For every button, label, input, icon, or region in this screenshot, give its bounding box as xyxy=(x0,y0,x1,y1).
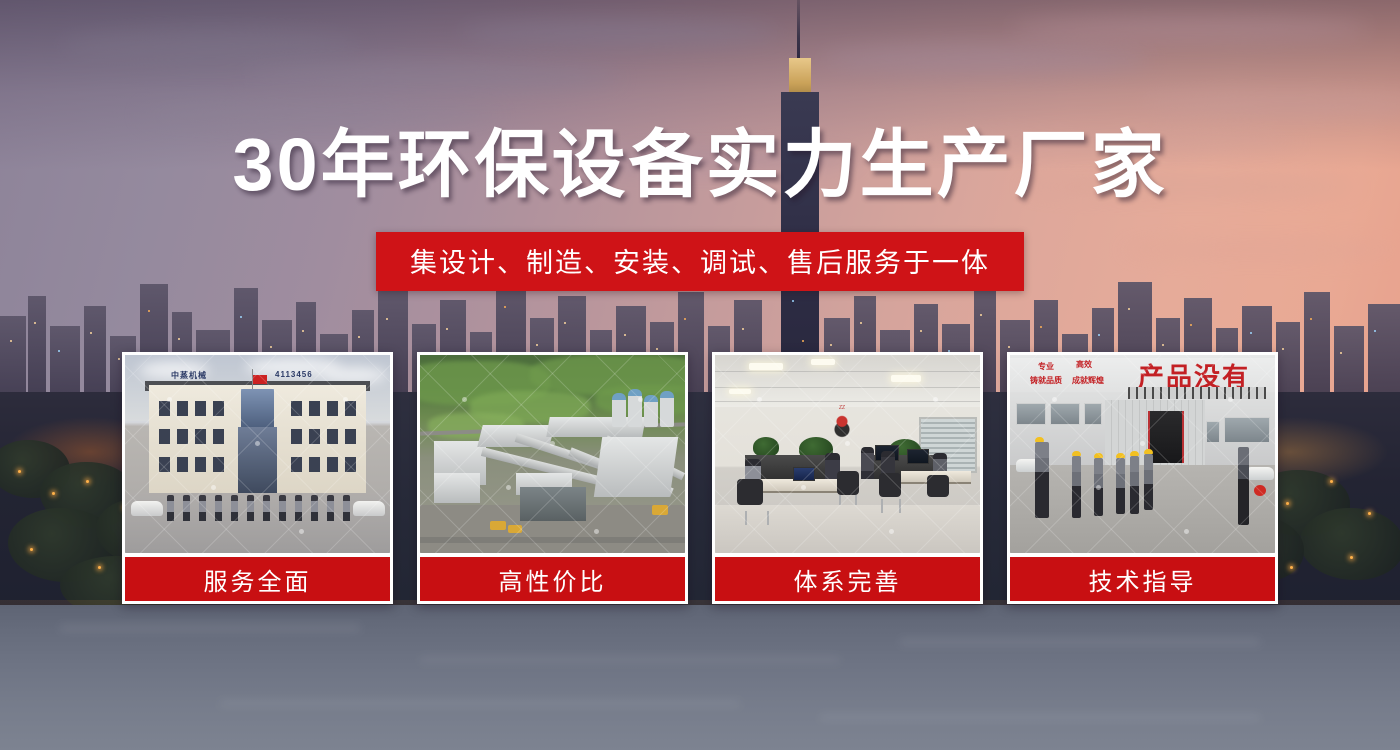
building-phone-text: 4113456 xyxy=(275,370,313,379)
feature-card-service[interactable]: 中蒸机械 4113456 xyxy=(122,352,393,604)
feature-card-training[interactable]: 产品没有 专业 高效 铸就品质 成就辉煌 xyxy=(1007,352,1278,604)
factory-slogan-small-4: 成就辉煌 xyxy=(1072,375,1104,386)
card-label-system[interactable]: 体系完善 xyxy=(715,557,980,601)
office-workspace-photo: ZZ xyxy=(715,355,980,553)
river-water xyxy=(0,605,1400,750)
card-label-service[interactable]: 服务全面 xyxy=(125,557,390,601)
company-headquarters-photo: 中蒸机械 4113456 xyxy=(125,355,390,553)
page-title: 30年环保设备实力生产厂家 xyxy=(0,128,1400,202)
technical-training-photo: 产品没有 专业 高效 铸就品质 成就辉煌 xyxy=(1010,355,1275,553)
card-label-value[interactable]: 高性价比 xyxy=(420,557,685,601)
factory-slogan-small-1: 专业 xyxy=(1038,361,1054,372)
wall-emblem-caption: ZZ xyxy=(823,405,861,411)
hero-subtitle-banner: 集设计、制造、安装、调试、售后服务于一体 xyxy=(376,232,1024,291)
factory-slogan-small-3: 铸就品质 xyxy=(1030,375,1062,386)
building-sign-text: 中蒸机械 xyxy=(171,370,207,381)
factory-slogan-small-2: 高效 xyxy=(1076,359,1092,370)
hero-banner: 30年环保设备实力生产厂家 集设计、制造、安装、调试、售后服务于一体 中蒸机械 … xyxy=(0,0,1400,750)
feature-card-system[interactable]: ZZ xyxy=(712,352,983,604)
production-plant-aerial-photo xyxy=(420,355,685,553)
feature-card-list: 中蒸机械 4113456 xyxy=(122,352,1278,604)
tower-spire xyxy=(797,0,800,62)
feature-card-value[interactable]: 高性价比 xyxy=(417,352,688,604)
card-label-training[interactable]: 技术指导 xyxy=(1010,557,1275,601)
